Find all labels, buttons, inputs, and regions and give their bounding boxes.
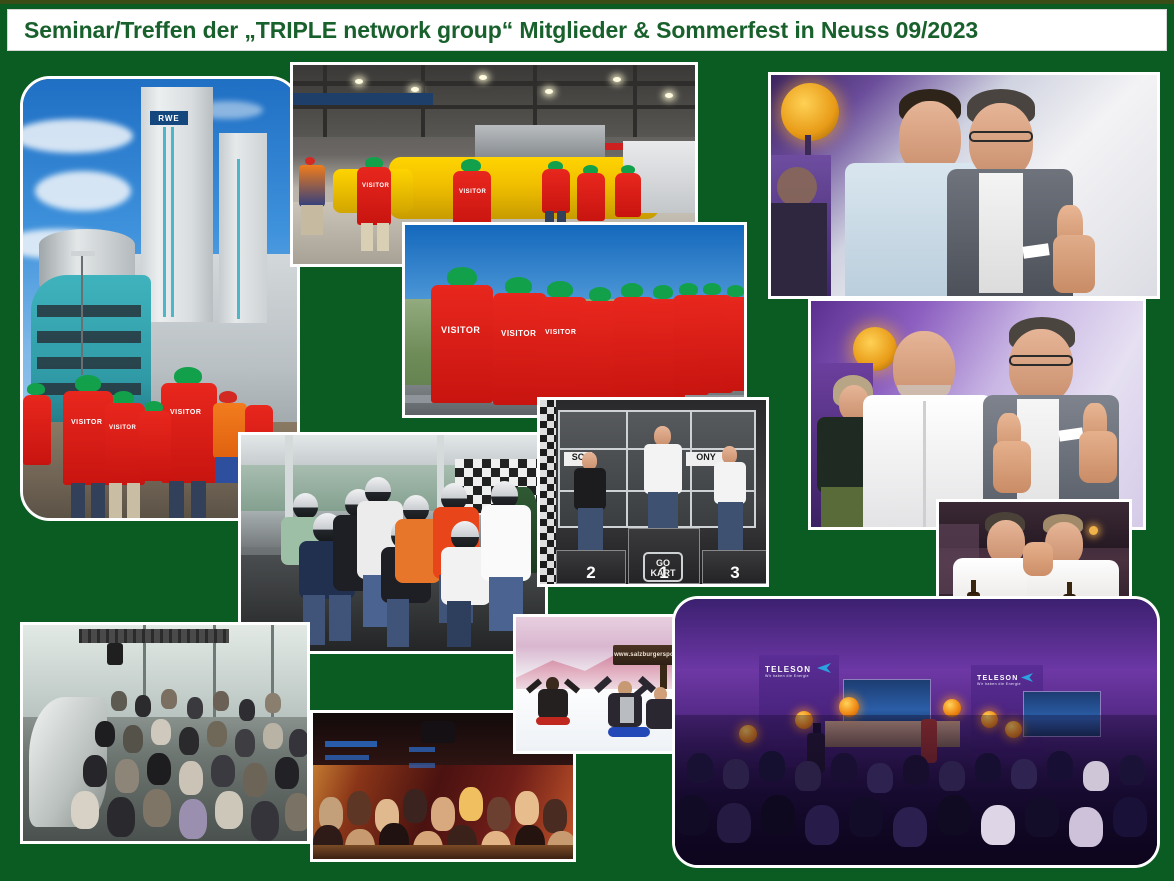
hand-fist	[1053, 235, 1095, 293]
photo-content: VISITOR VISITOR VISITOR	[405, 225, 744, 415]
photo-two-men-thumbs-up[interactable]	[768, 72, 1160, 299]
photo-content: SC ONY 1 2 3 GO	[540, 400, 766, 584]
light-mast	[81, 255, 83, 375]
cloud-shape	[35, 171, 131, 211]
hand-fist-left	[993, 441, 1031, 493]
checkered-border	[540, 400, 556, 584]
gokart-logo: GO KART	[643, 552, 683, 582]
photo-content: TELESON Wir haben die Energie TELESON Wi…	[675, 599, 1157, 865]
slide-title-bar: Seminar/Treffen der „TRIPLE network grou…	[8, 10, 1166, 50]
photo-two-men-thumbs-up-stage[interactable]	[808, 298, 1146, 530]
photo-teleson-conference-hall[interactable]: TELESON Wir haben die Energie TELESON Wi…	[672, 596, 1160, 868]
hand-fist-right	[1079, 431, 1117, 483]
neon-strip	[325, 741, 377, 747]
background-person-head	[777, 167, 817, 207]
photo-go-kart-podium[interactable]: SC ONY 1 2 3 GO	[537, 397, 769, 587]
page-title: Seminar/Treffen der „TRIPLE network grou…	[24, 17, 978, 44]
plant-tower-b	[219, 133, 267, 323]
neon-strip	[409, 763, 435, 768]
photo-networking-foyer[interactable]	[20, 622, 310, 844]
neon-strip	[325, 755, 369, 760]
teleson-brand-left: TELESON Wir haben die Energie	[765, 665, 811, 678]
photo-go-kart-group[interactable]	[238, 432, 548, 654]
hall-ceiling	[675, 599, 1157, 669]
stage-lamp-icon	[781, 83, 839, 141]
photo-content	[23, 625, 307, 841]
spotlight-fixture	[107, 643, 123, 665]
blue-girder	[293, 93, 433, 105]
rwe-logo: RWE	[150, 111, 188, 125]
sled	[608, 727, 650, 737]
arm-over-shoulder	[1023, 542, 1053, 576]
teleson-brand-right: TELESON Wir haben die Energie	[977, 675, 1021, 686]
eyeglasses-icon	[1009, 355, 1073, 366]
bar-counter	[313, 845, 573, 859]
bokeh-light	[1089, 526, 1098, 535]
pillar	[285, 435, 293, 527]
sign-post	[660, 663, 667, 689]
photo-content	[771, 75, 1157, 296]
photo-rooftop-viewing-platform[interactable]: VISITOR VISITOR VISITOR	[402, 222, 747, 418]
photo-content	[811, 301, 1143, 527]
lighting-truss	[79, 629, 229, 643]
podium-block-third: 3	[702, 550, 766, 584]
eyeglasses-icon	[969, 131, 1033, 142]
orange-lamp-icon	[839, 697, 859, 717]
dj-booth-light	[421, 721, 455, 743]
slide-canvas: Seminar/Treffen der „TRIPLE network grou…	[0, 0, 1174, 881]
podium-block-second: 2	[556, 550, 626, 584]
photo-content	[241, 435, 545, 651]
light-head	[71, 251, 95, 256]
background-person-body	[771, 203, 827, 296]
neon-strip	[409, 747, 435, 752]
sled	[536, 717, 570, 725]
